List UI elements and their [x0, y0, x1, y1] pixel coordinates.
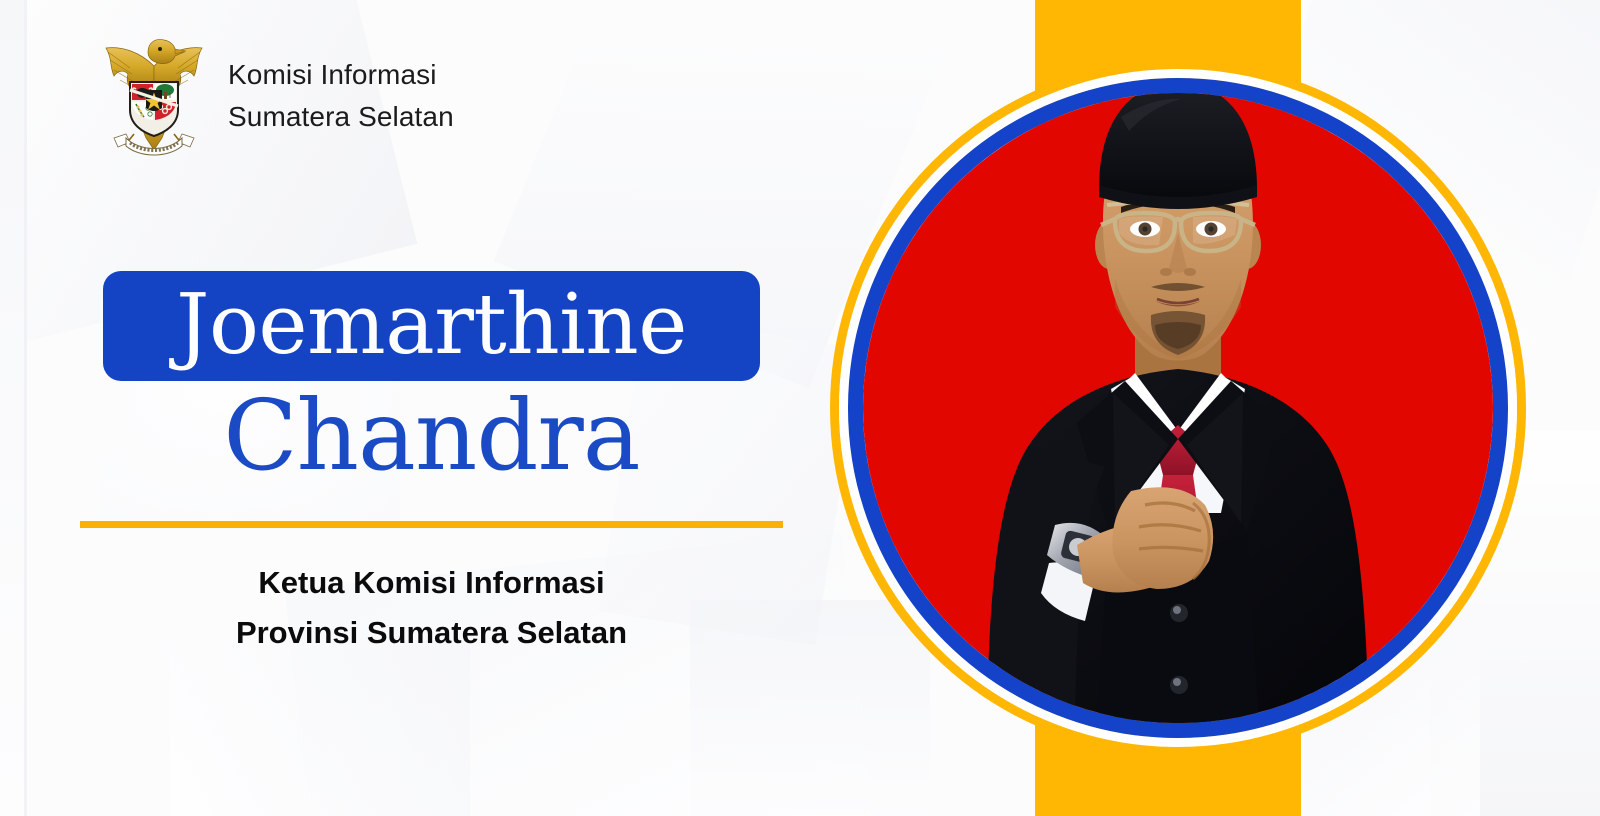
- bg-left-accent-line: [24, 0, 27, 816]
- gold-divider-line: [80, 521, 783, 528]
- garuda-pancasila-icon: [96, 34, 212, 158]
- person-title: Ketua Komisi Informasi Provinsi Sumatera…: [80, 558, 783, 658]
- bg-left-edge-band: [0, 0, 26, 816]
- first-name-text: Joemarthine: [176, 283, 687, 366]
- last-name-text: Chandra: [103, 385, 760, 487]
- organization-name: Komisi Informasi Sumatera Selatan: [228, 54, 454, 138]
- portrait-photo: [863, 93, 1493, 723]
- organization-logo-block: Komisi Informasi Sumatera Selatan: [96, 34, 454, 158]
- portrait-medallion: [830, 60, 1526, 756]
- first-name-banner: Joemarthine: [103, 271, 760, 381]
- person-illustration: [863, 93, 1493, 723]
- bg-polygon-lower-left: [170, 640, 470, 816]
